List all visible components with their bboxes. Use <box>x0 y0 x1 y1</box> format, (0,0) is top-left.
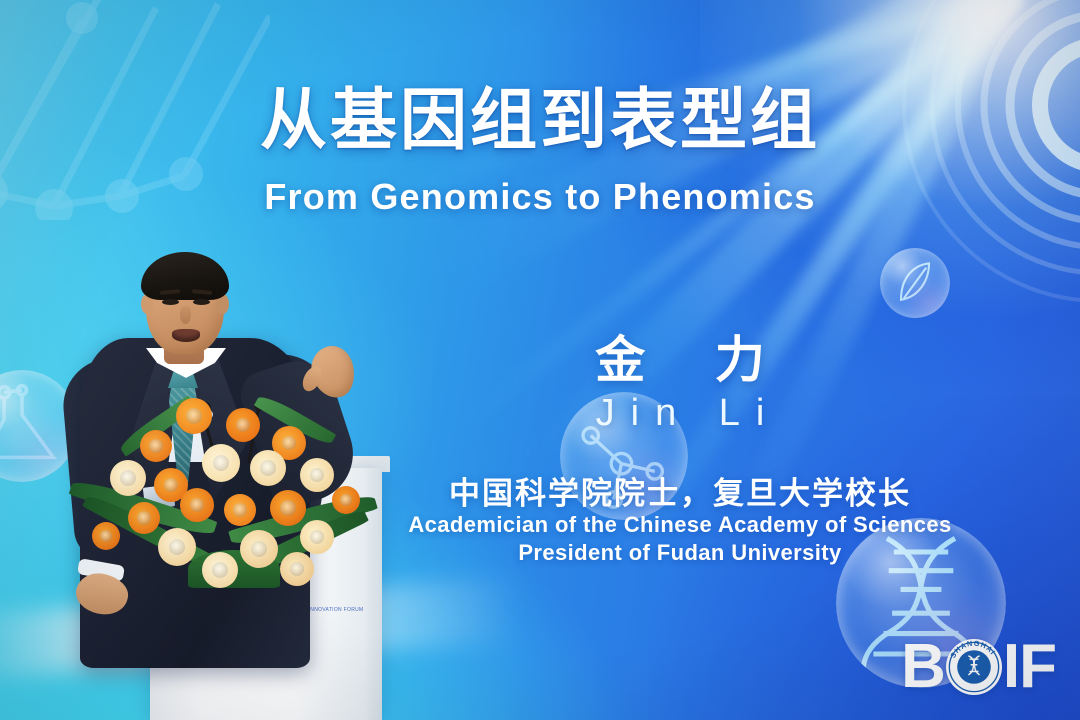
logo-badge-shanghai: SHANGHAI <box>946 639 1002 695</box>
floral-arrangement <box>84 402 364 602</box>
mouth <box>172 329 200 342</box>
flower-gerbera <box>128 502 160 534</box>
nose <box>180 306 191 324</box>
flower-rose <box>280 552 314 586</box>
flower-rose <box>250 450 286 486</box>
flower-gerbera <box>270 490 306 526</box>
decor-bubble-leaf <box>880 248 950 318</box>
flower-gerbera <box>224 494 256 526</box>
speaker-name-en: Jin Li <box>380 392 980 435</box>
flower-gerbera <box>332 486 360 514</box>
logo-letter-i: I <box>1003 639 1019 695</box>
flower-rose <box>300 458 334 492</box>
leaf-icon <box>880 248 950 318</box>
screen-title-en: From Genomics to Phenomics <box>0 176 1080 218</box>
boif-logo: B SHANGHAI I F <box>901 636 1056 698</box>
eye-left <box>162 299 179 305</box>
flower-gerbera <box>92 522 120 550</box>
speaker-photo-subject: 源头 创新 浦江生物医药源头创新论坛 PUJIANG BIOPHARMACEUT… <box>40 250 460 720</box>
flower-gerbera <box>140 430 172 462</box>
flower-rose <box>158 528 196 566</box>
dna-helix-icon: SHANGHAI <box>946 639 1002 695</box>
speaker-name-zh: 金 力 <box>380 320 980 392</box>
eye-right <box>193 299 210 305</box>
conference-stage-photo: 从基因组到表型组 From Genomics to Phenomics 金 力 … <box>0 0 1080 720</box>
screen-title-zh: 从基因组到表型组 <box>0 66 1080 163</box>
flower-rose <box>202 552 238 588</box>
flower-rose <box>240 530 278 568</box>
logo-letter-f: F <box>1019 639 1056 695</box>
hair <box>141 252 229 300</box>
flower-rose <box>110 460 146 496</box>
flower-rose <box>202 444 240 482</box>
flower-gerbera <box>176 398 212 434</box>
logo-letter-b: B <box>901 639 945 695</box>
flower-gerbera <box>226 408 260 442</box>
flower-gerbera <box>180 488 214 522</box>
flower-rose <box>300 520 334 554</box>
